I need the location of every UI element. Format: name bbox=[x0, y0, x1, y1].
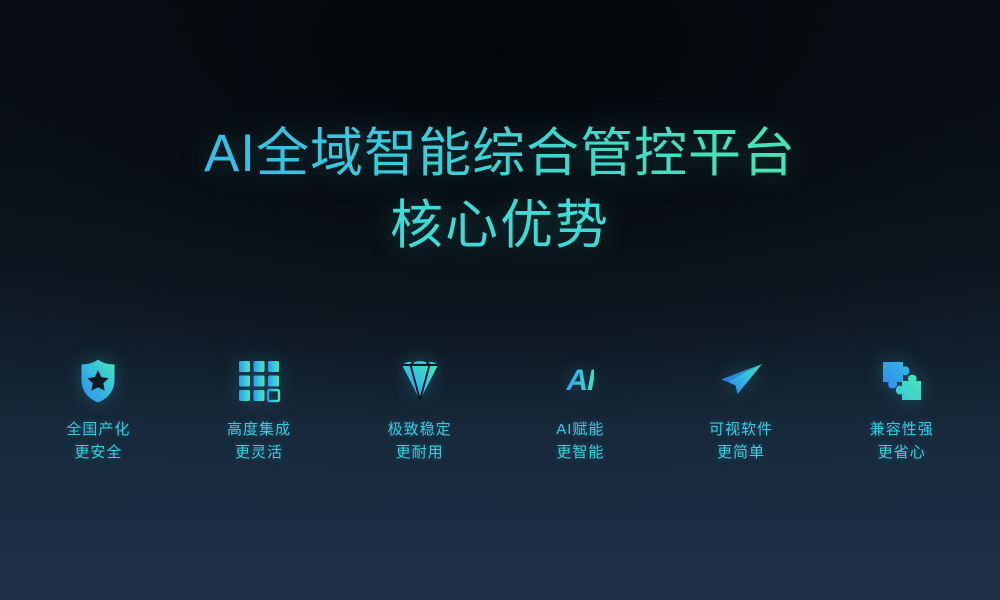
feature-labels: 全国产化 更安全 bbox=[66, 418, 130, 464]
puzzle-pieces-icon bbox=[879, 358, 925, 404]
feature-label-line-1: 兼容性强 bbox=[870, 418, 934, 441]
feature-item-domestic: 全国产化 更安全 bbox=[18, 358, 179, 464]
feature-labels: 极致稳定 更耐用 bbox=[388, 418, 452, 464]
feature-label-line-2: 更灵活 bbox=[227, 441, 291, 464]
feature-label-line-2: 更简单 bbox=[709, 441, 773, 464]
feature-label-line-2: 更耐用 bbox=[388, 441, 452, 464]
ai-text-icon: AI bbox=[557, 358, 603, 404]
feature-labels: 兼容性强 更省心 bbox=[870, 418, 934, 464]
feature-label-line-1: AI赋能 bbox=[556, 418, 604, 441]
feature-item-ai: AI AI赋能 更智能 bbox=[500, 358, 661, 464]
page-title-line-1: AI全域智能综合管控平台 bbox=[0, 122, 1000, 186]
feature-item-stability: 极致稳定 更耐用 bbox=[339, 358, 500, 464]
feature-label-line-1: 极致稳定 bbox=[388, 418, 452, 441]
feature-labels: 高度集成 更灵活 bbox=[227, 418, 291, 464]
feature-item-integration: 高度集成 更灵活 bbox=[179, 358, 340, 464]
grid-squares-icon bbox=[236, 358, 282, 404]
feature-label-line-2: 更智能 bbox=[556, 441, 604, 464]
page-title-line-2: 核心优势 bbox=[0, 194, 1000, 258]
feature-label-line-1: 可视软件 bbox=[709, 418, 773, 441]
ai-glyph-label: AI bbox=[566, 358, 594, 404]
feature-list: 全国产化 更安全 bbox=[0, 358, 1000, 464]
feature-labels: 可视软件 更简单 bbox=[709, 418, 773, 464]
feature-labels: AI赋能 更智能 bbox=[556, 418, 604, 464]
slide-canvas: AI全域智能综合管控平台 核心优势 bbox=[0, 0, 1000, 600]
feature-label-line-2: 更省心 bbox=[870, 441, 934, 464]
shield-star-icon bbox=[75, 358, 121, 404]
feature-label-line-2: 更安全 bbox=[66, 441, 130, 464]
feature-item-visual-software: 可视软件 更简单 bbox=[661, 358, 822, 464]
feature-item-compatibility: 兼容性强 更省心 bbox=[821, 358, 982, 464]
paper-plane-icon bbox=[718, 358, 764, 404]
feature-label-line-1: 全国产化 bbox=[66, 418, 130, 441]
diamond-gem-icon bbox=[397, 358, 443, 404]
feature-label-line-1: 高度集成 bbox=[227, 418, 291, 441]
title-block: AI全域智能综合管控平台 核心优势 bbox=[0, 122, 1000, 258]
